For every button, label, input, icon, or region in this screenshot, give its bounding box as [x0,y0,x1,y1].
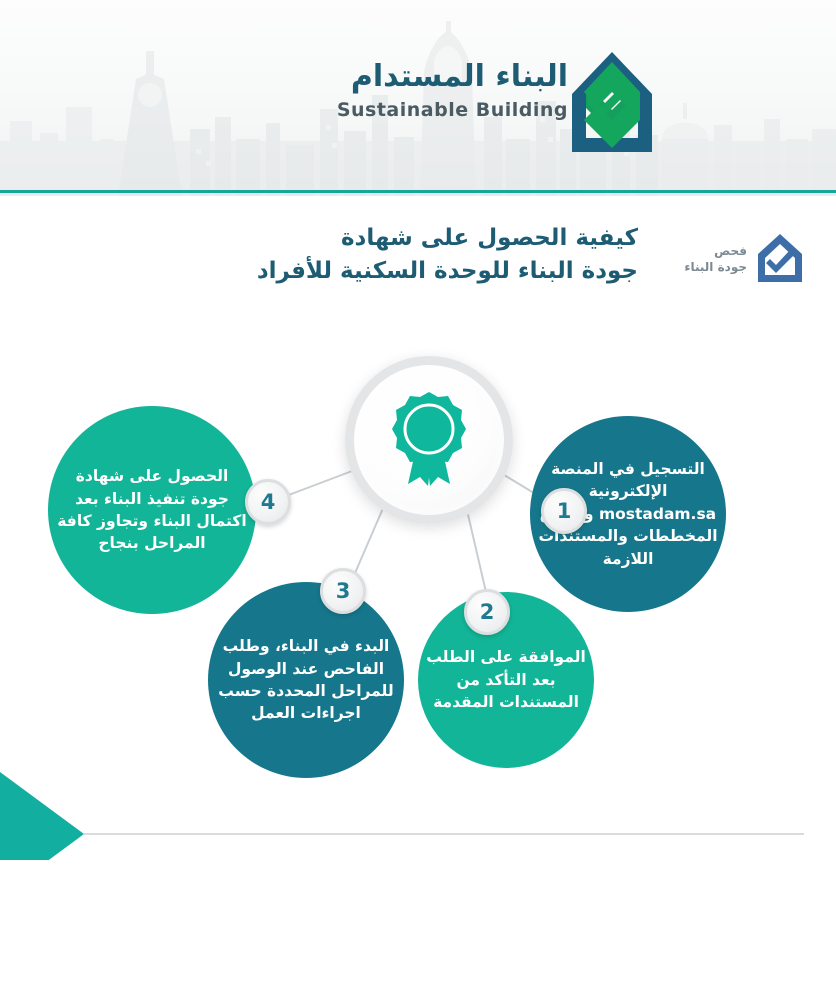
building-quality-inspection-logo: فحص جودة البناء [684,232,806,288]
header-accent-line [0,190,836,193]
connector-line-3 [352,506,384,580]
step-bubble-4[interactable]: الحصول على شهادة جودة تنفيذ البناء بعد ا… [48,406,256,614]
footer-divider [84,833,804,835]
brand-title-english: Sustainable Building [337,99,568,121]
award-ribbon-icon [386,390,472,490]
brand-titles: البناء المستدام Sustainable Building [337,60,568,121]
step-text-3: البدء في البناء، وطلب الفاحص عند الوصول … [216,635,396,725]
inspection-logo-line-2: جودة البناء [684,260,747,276]
center-award-badge [345,356,513,524]
page-title-line-1: كيفية الحصول على شهادة [257,222,638,255]
page-title: كيفية الحصول على شهادة جودة البناء للوحد… [257,222,638,289]
page-title-line-2: جودة البناء للوحدة السكنية للأفراد [257,255,638,288]
footer: mostadam.sa I mostadam_sa I 920020035 بر… [0,860,836,1000]
step-text-4: الحصول على شهادة جودة تنفيذ البناء بعد ا… [56,465,248,555]
brand-title-arabic: البناء المستدام [337,60,568,93]
step-number-3[interactable]: 3 [320,568,366,614]
sustainable-building-logo [566,48,658,158]
connector-line-4 [286,468,360,496]
inspection-logo-text: فحص جودة البناء [684,244,747,275]
step-text-2: الموافقة على الطلب بعد التأكد من المستند… [426,646,586,713]
header-banner: البناء المستدام Sustainable Building [0,0,836,196]
process-diagram: الحصول على شهادة جودة تنفيذ البناء بعد ا… [0,330,836,800]
infographic-page: البناء المستدام Sustainable Building كيف… [0,0,836,1000]
inspection-logo-line-1: فحص [684,244,747,260]
step-number-2[interactable]: 2 [464,589,510,635]
step-bubble-3[interactable]: البدء في البناء، وطلب الفاحص عند الوصول … [208,582,404,778]
connector-line-2 [466,506,486,592]
step-number-4[interactable]: 4 [245,479,291,525]
house-check-icon [754,232,806,288]
step-number-1[interactable]: 1 [541,488,587,534]
